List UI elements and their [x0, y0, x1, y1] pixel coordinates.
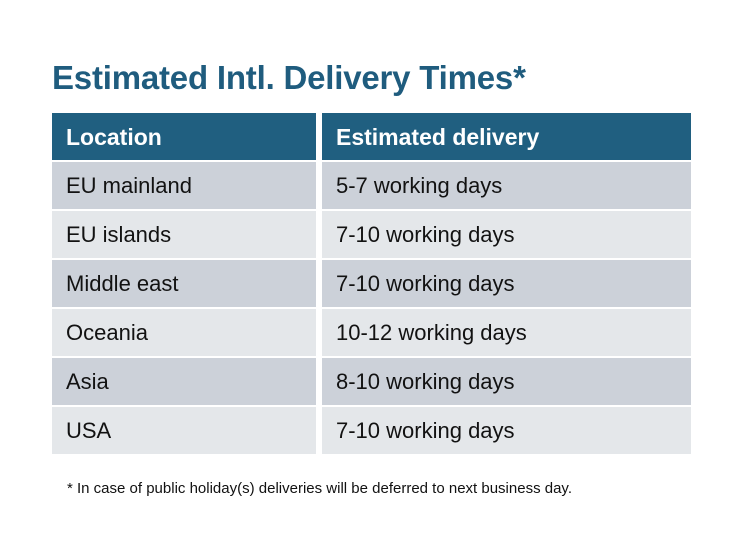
cell-delivery: 8-10 working days	[322, 358, 691, 405]
page-title: Estimated Intl. Delivery Times*	[52, 58, 526, 98]
cell-delivery: 7-10 working days	[322, 260, 691, 307]
table-row: Middle east 7-10 working days	[52, 260, 691, 307]
table-row: EU mainland 5-7 working days	[52, 162, 691, 209]
delivery-times-table: Location Estimated delivery EU mainland …	[52, 113, 691, 454]
cell-location: Asia	[52, 358, 316, 405]
delivery-times-page: Estimated Intl. Delivery Times* Location…	[0, 0, 745, 536]
cell-delivery: 7-10 working days	[322, 407, 691, 454]
table-row: Asia 8-10 working days	[52, 358, 691, 405]
cell-delivery: 7-10 working days	[322, 211, 691, 258]
table-row: USA 7-10 working days	[52, 407, 691, 454]
table-row: Oceania 10-12 working days	[52, 309, 691, 356]
cell-location: Middle east	[52, 260, 316, 307]
table-row: EU islands 7-10 working days	[52, 211, 691, 258]
cell-delivery: 5-7 working days	[322, 162, 691, 209]
cell-location: EU mainland	[52, 162, 316, 209]
column-header-location: Location	[52, 113, 316, 160]
cell-location: USA	[52, 407, 316, 454]
footnote-text: * In case of public holiday(s) deliverie…	[67, 479, 572, 499]
table-header-row: Location Estimated delivery	[52, 113, 691, 160]
cell-delivery: 10-12 working days	[322, 309, 691, 356]
cell-location: Oceania	[52, 309, 316, 356]
cell-location: EU islands	[52, 211, 316, 258]
column-header-delivery: Estimated delivery	[322, 113, 691, 160]
